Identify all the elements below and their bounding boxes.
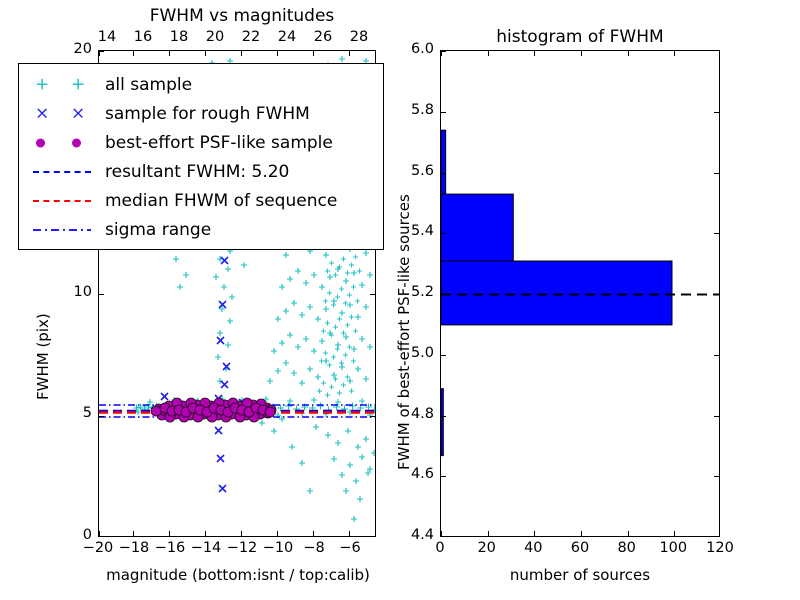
right-x-tick-label: 20 <box>469 540 505 556</box>
top-tick-label: 22 <box>233 29 269 45</box>
legend-item-psf-like[interactable]: best-effort PSF-like sample <box>27 128 373 157</box>
right-xaxis-label: number of sources <box>440 566 720 584</box>
legend-label: best-effort PSF-like sample <box>99 133 333 153</box>
left-yaxis-label: FWHM (pix) <box>34 313 52 400</box>
legend-handle <box>27 189 99 213</box>
legend-handle <box>27 131 99 155</box>
histogram-bar <box>441 130 446 194</box>
legend-item-median-fwhm[interactable]: median FHWM of sequence <box>27 186 373 215</box>
dashed-line-icon <box>33 171 91 173</box>
plus-icon: + <box>35 76 49 93</box>
right-y-tick-label: 5.8 <box>390 102 434 118</box>
legend-item-resultant-fwhm[interactable]: resultant FWHM: 5.20 <box>27 157 373 186</box>
left-x-tick-label: −14 <box>186 540 226 556</box>
legend-label: resultant FWHM: 5.20 <box>99 162 289 182</box>
left-x-tick-label: −20 <box>78 540 118 556</box>
figure-canvas: FWHM vs magnitudes 14 16 18 20 22 24 26 … <box>0 0 800 600</box>
legend-handle: + + <box>27 73 99 97</box>
right-y-tick-label: 6.0 <box>390 41 434 57</box>
right-plot-area[interactable] <box>440 50 720 537</box>
left-y-tick-label: 5 <box>58 405 92 421</box>
left-y-tick-label: 10 <box>58 284 92 300</box>
left-y-tick-label: 20 <box>58 41 92 57</box>
right-y-tick-label: 5.6 <box>390 163 434 179</box>
top-tick-label: 20 <box>197 29 233 45</box>
legend-handle: × × <box>27 102 99 126</box>
right-x-tick-label: 80 <box>609 540 645 556</box>
histogram-bar <box>441 261 672 325</box>
legend-handle <box>27 160 99 184</box>
legend-label: sigma range <box>99 220 211 240</box>
top-tick-label: 26 <box>305 29 341 45</box>
right-x-tick-label: 120 <box>702 540 738 556</box>
legend-label: all sample <box>99 75 192 95</box>
right-x-tick-label: 0 <box>422 540 458 556</box>
cross-icon: × <box>71 105 85 122</box>
panel-histogram-of-fwhm: histogram of FWHM <box>400 0 800 600</box>
right-yaxis-label: FWHM of best-effort PSF-like sources <box>395 194 413 470</box>
left-x-tick-label: −10 <box>258 540 298 556</box>
left-x-tick-label: −6 <box>330 540 370 556</box>
legend-label: median FHWM of sequence <box>99 191 337 211</box>
left-plot-title: FWHM vs magnitudes <box>98 6 386 26</box>
left-x-tick-label: −12 <box>222 540 262 556</box>
top-tick-label: 14 <box>89 29 125 45</box>
right-x-tick-label: 100 <box>655 540 691 556</box>
circle-icon <box>72 138 81 147</box>
histogram-canvas <box>441 51 720 537</box>
legend-item-rough-fwhm[interactable]: × × sample for rough FWHM <box>27 99 373 128</box>
top-tick-label: 24 <box>269 29 305 45</box>
cross-icon: × <box>35 105 49 122</box>
top-tick-label: 16 <box>125 29 161 45</box>
right-x-tick-label: 60 <box>562 540 598 556</box>
histogram-bar <box>441 389 443 456</box>
legend-item-all-sample[interactable]: + + all sample <box>27 70 373 99</box>
right-plot-title: histogram of FWHM <box>440 27 720 47</box>
right-x-tick-label: 40 <box>515 540 551 556</box>
top-tick-label: 18 <box>161 29 197 45</box>
left-x-tick-label: −18 <box>114 540 154 556</box>
plus-icon: + <box>71 76 85 93</box>
top-tick-label: 28 <box>341 29 377 45</box>
dashed-line-icon <box>33 200 91 202</box>
left-x-tick-label: −8 <box>294 540 334 556</box>
left-xaxis-label: magnitude (bottom:isnt / top:calib) <box>78 566 398 584</box>
series-psf-like <box>151 398 276 422</box>
left-x-tick-label: −16 <box>150 540 190 556</box>
legend-handle <box>27 218 99 242</box>
legend-item-sigma-range[interactable]: sigma range <box>27 215 373 244</box>
legend-label: sample for rough FWHM <box>99 104 310 124</box>
dashdot-line-icon <box>33 227 91 233</box>
legend[interactable]: + + all sample × × sample for rough FWHM… <box>18 63 384 250</box>
histogram-bar <box>441 194 513 261</box>
circle-icon <box>36 138 45 147</box>
